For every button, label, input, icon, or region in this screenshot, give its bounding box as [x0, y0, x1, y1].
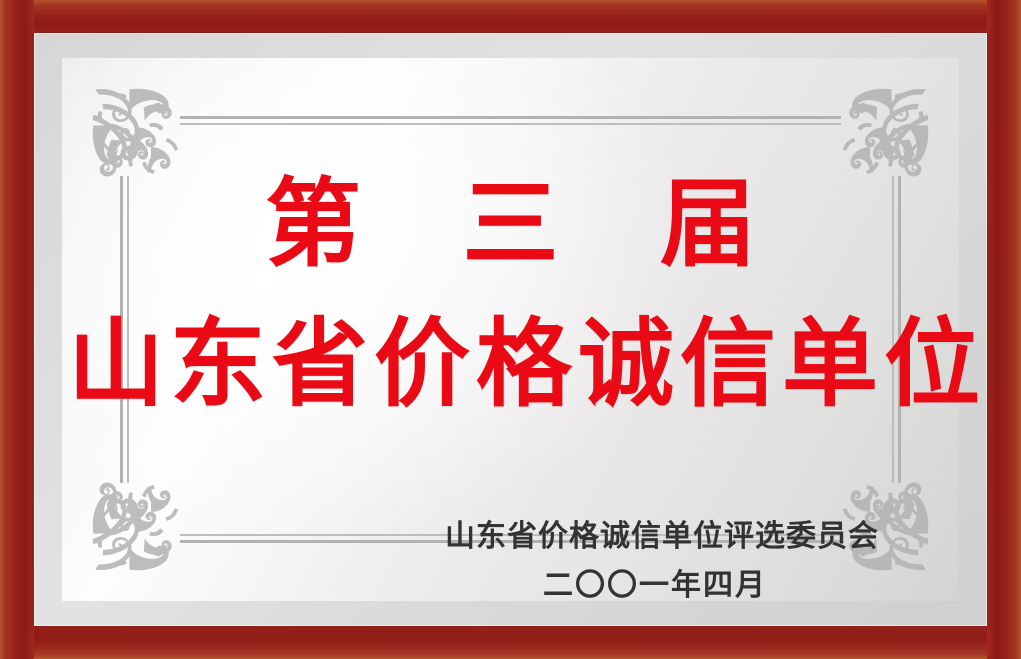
plaque-content: 第 三 届 山东省价格诚信单位 山东省价格诚信单位评选委员会 二〇〇一年四月: [62, 58, 959, 601]
frame-rail-left: [0, 0, 34, 659]
frame-rail-right: [987, 0, 1021, 659]
issue-date: 二〇〇一年四月: [445, 569, 865, 604]
frame-rail-top: [0, 0, 1021, 34]
silver-plate: 第 三 届 山东省价格诚信单位 山东省价格诚信单位评选委员会 二〇〇一年四月: [62, 58, 959, 601]
page-title-line2: 山东省价格诚信单位: [62, 316, 959, 412]
page-title-line1: 第 三 届: [62, 176, 959, 272]
issuing-organization: 山东省价格诚信单位评选委员会: [445, 520, 865, 555]
award-plaque: 第 三 届 山东省价格诚信单位 山东省价格诚信单位评选委员会 二〇〇一年四月: [0, 0, 1021, 659]
silver-plate-border: 第 三 届 山东省价格诚信单位 山东省价格诚信单位评选委员会 二〇〇一年四月: [34, 33, 987, 626]
frame-rail-bottom: [0, 625, 1021, 659]
signature-block: 山东省价格诚信单位评选委员会 二〇〇一年四月: [445, 520, 865, 603]
